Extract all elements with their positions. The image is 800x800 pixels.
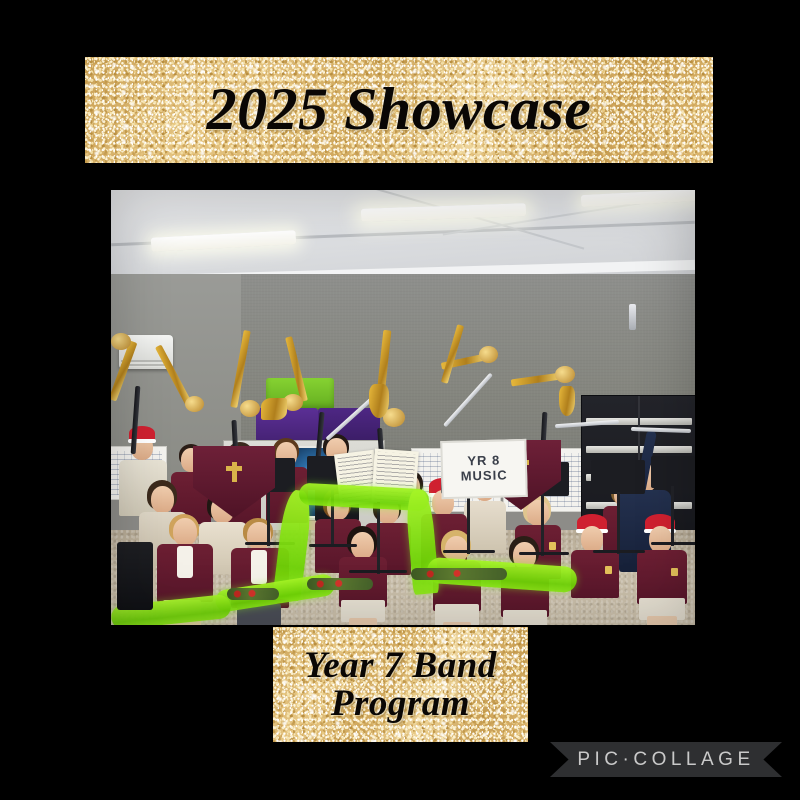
- floral-decoration: [411, 568, 507, 580]
- saxophone-bell: [261, 398, 287, 420]
- band-photo: YR 8 MUSIC: [111, 190, 695, 625]
- caption-line-1: Year 7 Band: [304, 647, 497, 685]
- caption-text: Year 7 Band Program: [273, 627, 528, 742]
- floral-decoration: [307, 578, 373, 590]
- school-crest: [226, 462, 242, 482]
- sign-line-2: MUSIC: [461, 468, 508, 484]
- title-banner: 2025 Showcase: [85, 57, 713, 163]
- caption-banner: Year 7 Band Program: [273, 627, 528, 742]
- watermark-text: PIC·COLLAGE: [577, 749, 754, 771]
- speaker-amp: [117, 542, 153, 610]
- saxophone-body: [559, 386, 575, 416]
- trumpet-bell: [479, 346, 498, 363]
- yr8-music-sign: YR 8 MUSIC: [440, 439, 527, 499]
- floral-decoration: [227, 588, 279, 600]
- piccollage-watermark: PIC·COLLAGE: [550, 742, 782, 777]
- trumpet-bell: [555, 366, 575, 383]
- title-text: 2025 Showcase: [85, 57, 713, 163]
- saxophone-body: [369, 384, 389, 418]
- caption-line-2: Program: [331, 685, 470, 723]
- flute: [629, 304, 636, 330]
- photo-collage-canvas: 2025 Showcase YR 8 MUSIC: [0, 0, 800, 800]
- trombone-bell: [111, 333, 131, 350]
